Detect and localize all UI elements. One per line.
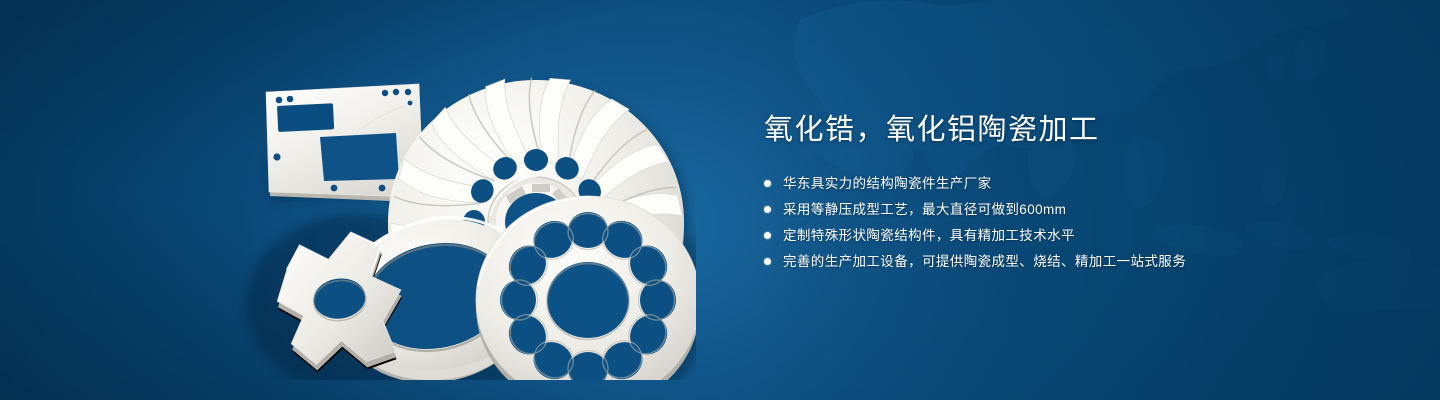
list-item-label: 完善的生产加工设备，可提供陶瓷成型、烧结、精加工一站式服务 (783, 251, 1186, 272)
list-item-label: 定制特殊形状陶瓷结构件，具有精加工技术水平 (783, 225, 1075, 246)
list-item-label: 采用等静压成型工艺，最大直径可做到600mm (783, 199, 1066, 220)
bullet-dot-icon (764, 180, 771, 187)
ceramic-products-image (236, 44, 696, 380)
banner-copy: 氧化锆，氧化铝陶瓷加工 华东具实力的结构陶瓷件生产厂家 采用等静压成型工艺，最大… (764, 110, 1384, 277)
bullet-dot-icon (764, 232, 771, 239)
list-item: 采用等静压成型工艺，最大直径可做到600mm (764, 199, 1384, 220)
list-item: 定制特殊形状陶瓷结构件，具有精加工技术水平 (764, 225, 1384, 246)
hero-banner: 氧化锆，氧化铝陶瓷加工 华东具实力的结构陶瓷件生产厂家 采用等静压成型工艺，最大… (0, 0, 1440, 400)
feature-list: 华东具实力的结构陶瓷件生产厂家 采用等静压成型工艺，最大直径可做到600mm 定… (764, 173, 1384, 272)
bullet-dot-icon (764, 206, 771, 213)
list-item-label: 华东具实力的结构陶瓷件生产厂家 (783, 173, 992, 194)
list-item: 完善的生产加工设备，可提供陶瓷成型、烧结、精加工一站式服务 (764, 251, 1384, 272)
list-item: 华东具实力的结构陶瓷件生产厂家 (764, 173, 1384, 194)
page-title: 氧化锆，氧化铝陶瓷加工 (764, 110, 1384, 150)
bullet-dot-icon (764, 258, 771, 265)
